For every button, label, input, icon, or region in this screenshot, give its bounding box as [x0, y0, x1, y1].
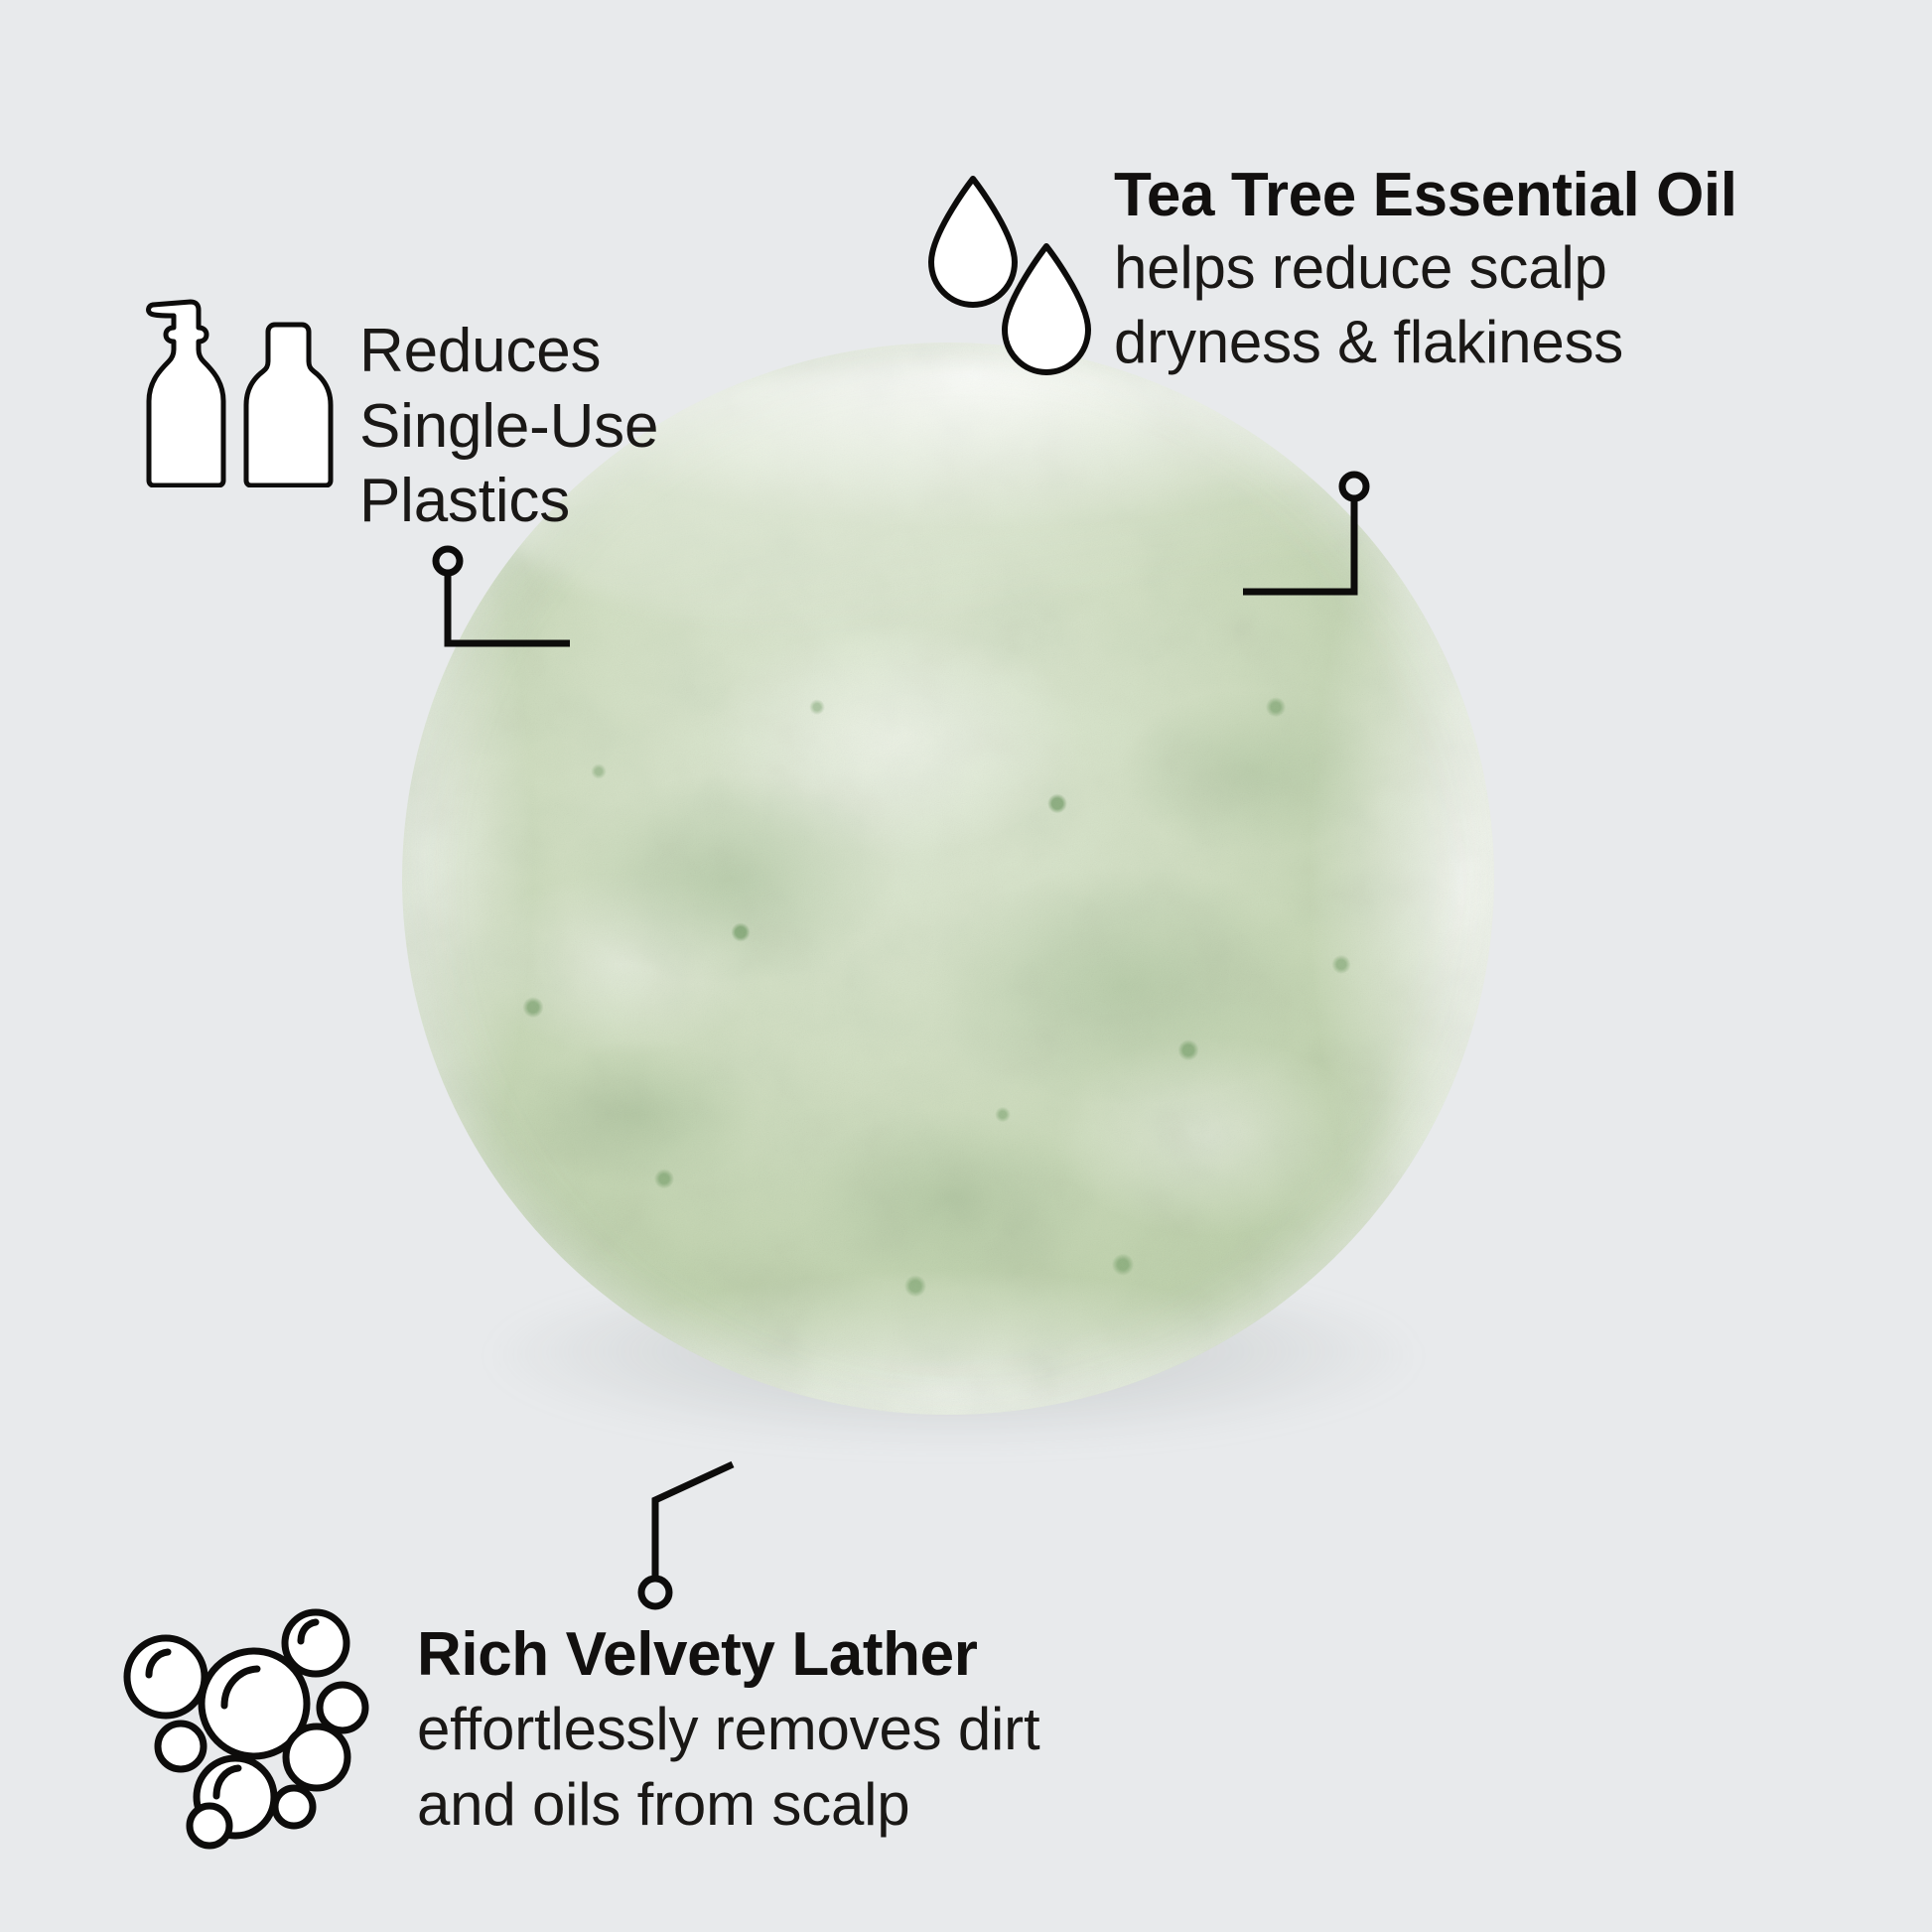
- leader-teatree-path: [1243, 501, 1354, 592]
- lather-line-1: effortlessly removes dirt: [417, 1692, 1039, 1767]
- plastics-line-2: Single-Use: [359, 389, 658, 465]
- water-drops-icon: [923, 171, 1102, 379]
- tea-tree-line-2: dryness & flakiness: [1114, 306, 1737, 379]
- callout-lather-text: Rich Velvety Lather effortlessly removes…: [417, 1618, 1039, 1843]
- tea-tree-line-1: helps reduce scalp: [1114, 231, 1737, 305]
- leader-lather-dot: [641, 1579, 669, 1606]
- callout-tea-tree-text: Tea Tree Essential Oil helps reduce scal…: [1114, 159, 1737, 379]
- bubbles-icon: [103, 1608, 391, 1896]
- plastics-line-1: Reduces: [359, 314, 658, 389]
- leader-plastics-dot: [436, 549, 460, 573]
- leader-plastics-path: [448, 576, 570, 643]
- lather-heading: Rich Velvety Lather: [417, 1618, 1039, 1692]
- leader-lather-path: [655, 1464, 733, 1577]
- leader-teatree-dot: [1342, 475, 1366, 498]
- bottles-icon: [125, 294, 344, 487]
- lather-line-2: and oils from scalp: [417, 1767, 1039, 1843]
- plastics-line-3: Plastics: [359, 464, 658, 539]
- callout-plastics-text: Reduces Single-Use Plastics: [359, 314, 658, 539]
- tea-tree-heading: Tea Tree Essential Oil: [1114, 159, 1737, 231]
- infographic-canvas: Reduces Single-Use Plastics Tea Tree Ess…: [0, 0, 1932, 1932]
